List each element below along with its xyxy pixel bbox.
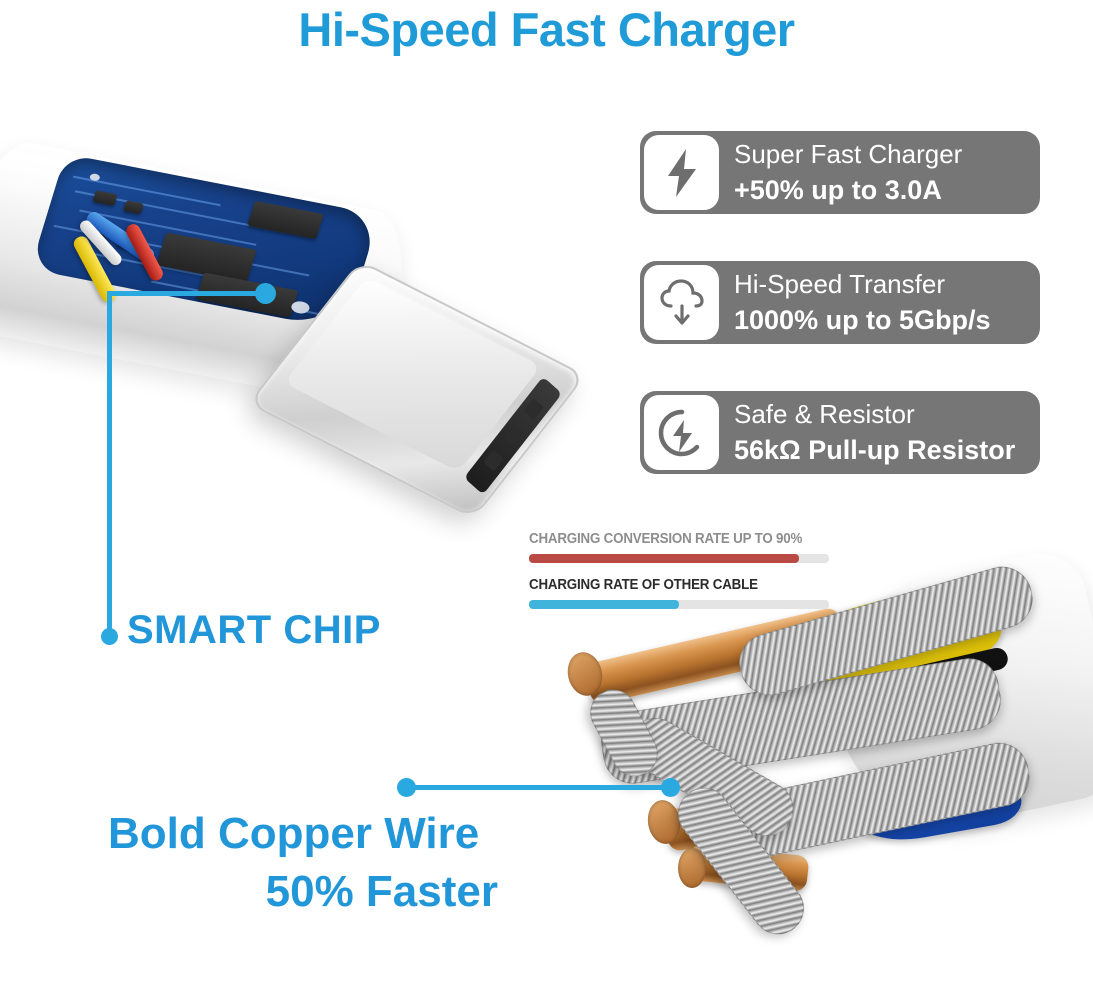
bar-label-conversion-rate: CHARGING CONVERSION RATE UP TO 90% [529, 531, 805, 547]
bar-track-conversion-rate [529, 554, 829, 563]
feature-badge-hi-speed-transfer[interactable]: Hi-Speed Transfer 1000% up to 5Gbp/s [640, 261, 1040, 344]
badge-line-2: 1000% up to 5Gbp/s [734, 302, 1032, 338]
feature-badge-safe-resistor[interactable]: Safe & Resistor 56kΩ Pull-up Resistor [640, 391, 1040, 474]
page-title: Hi-Speed Fast Charger [0, 2, 1093, 57]
callout-bold-copper-wire: Bold Copper Wire 50% Faster [108, 805, 498, 921]
badge-text: Safe & Resistor 56kΩ Pull-up Resistor [734, 396, 1032, 468]
quick-charge-icon [644, 395, 719, 470]
badge-line-1: Hi-Speed Transfer [734, 266, 1032, 302]
cloud-download-icon [644, 265, 719, 340]
badge-text: Hi-Speed Transfer 1000% up to 5Gbp/s [734, 266, 1032, 338]
usb-c-connector-photo [0, 120, 590, 550]
callout-copper-line-2: 50% Faster [108, 863, 498, 921]
bar-label-other-cable: CHARGING RATE OF OTHER CABLE [529, 577, 805, 593]
charging-rate-comparison-chart: CHARGING CONVERSION RATE UP TO 90% CHARG… [529, 531, 829, 623]
feature-badge-super-fast-charger[interactable]: Super Fast Charger +50% up to 3.0A [640, 131, 1040, 214]
bar-fill-other-cable [529, 600, 679, 609]
lightning-bolt-icon [644, 135, 719, 210]
copper-wire-photo [560, 560, 1093, 990]
bar-track-other-cable [529, 600, 829, 609]
callout-copper-line-1: Bold Copper Wire [108, 809, 479, 858]
smart-chip-leader-vertical [107, 291, 112, 639]
bar-fill-conversion-rate [529, 554, 799, 563]
infographic-page: Hi-Speed Fast Charger [0, 0, 1093, 1001]
copper-wire-pointer-dot [661, 778, 680, 797]
badge-line-1: Safe & Resistor [734, 396, 1032, 432]
smart-chip-label-dot [101, 628, 118, 645]
badge-line-2: +50% up to 3.0A [734, 172, 1032, 208]
copper-wire-leader-line [404, 785, 672, 790]
callout-smart-chip: SMART CHIP [127, 608, 381, 653]
badge-line-2: 56kΩ Pull-up Resistor [734, 432, 1032, 468]
badge-text: Super Fast Charger +50% up to 3.0A [734, 136, 1032, 208]
smart-chip-leader-horizontal [107, 291, 265, 296]
badge-line-1: Super Fast Charger [734, 136, 1032, 172]
ic-chip [247, 201, 323, 239]
